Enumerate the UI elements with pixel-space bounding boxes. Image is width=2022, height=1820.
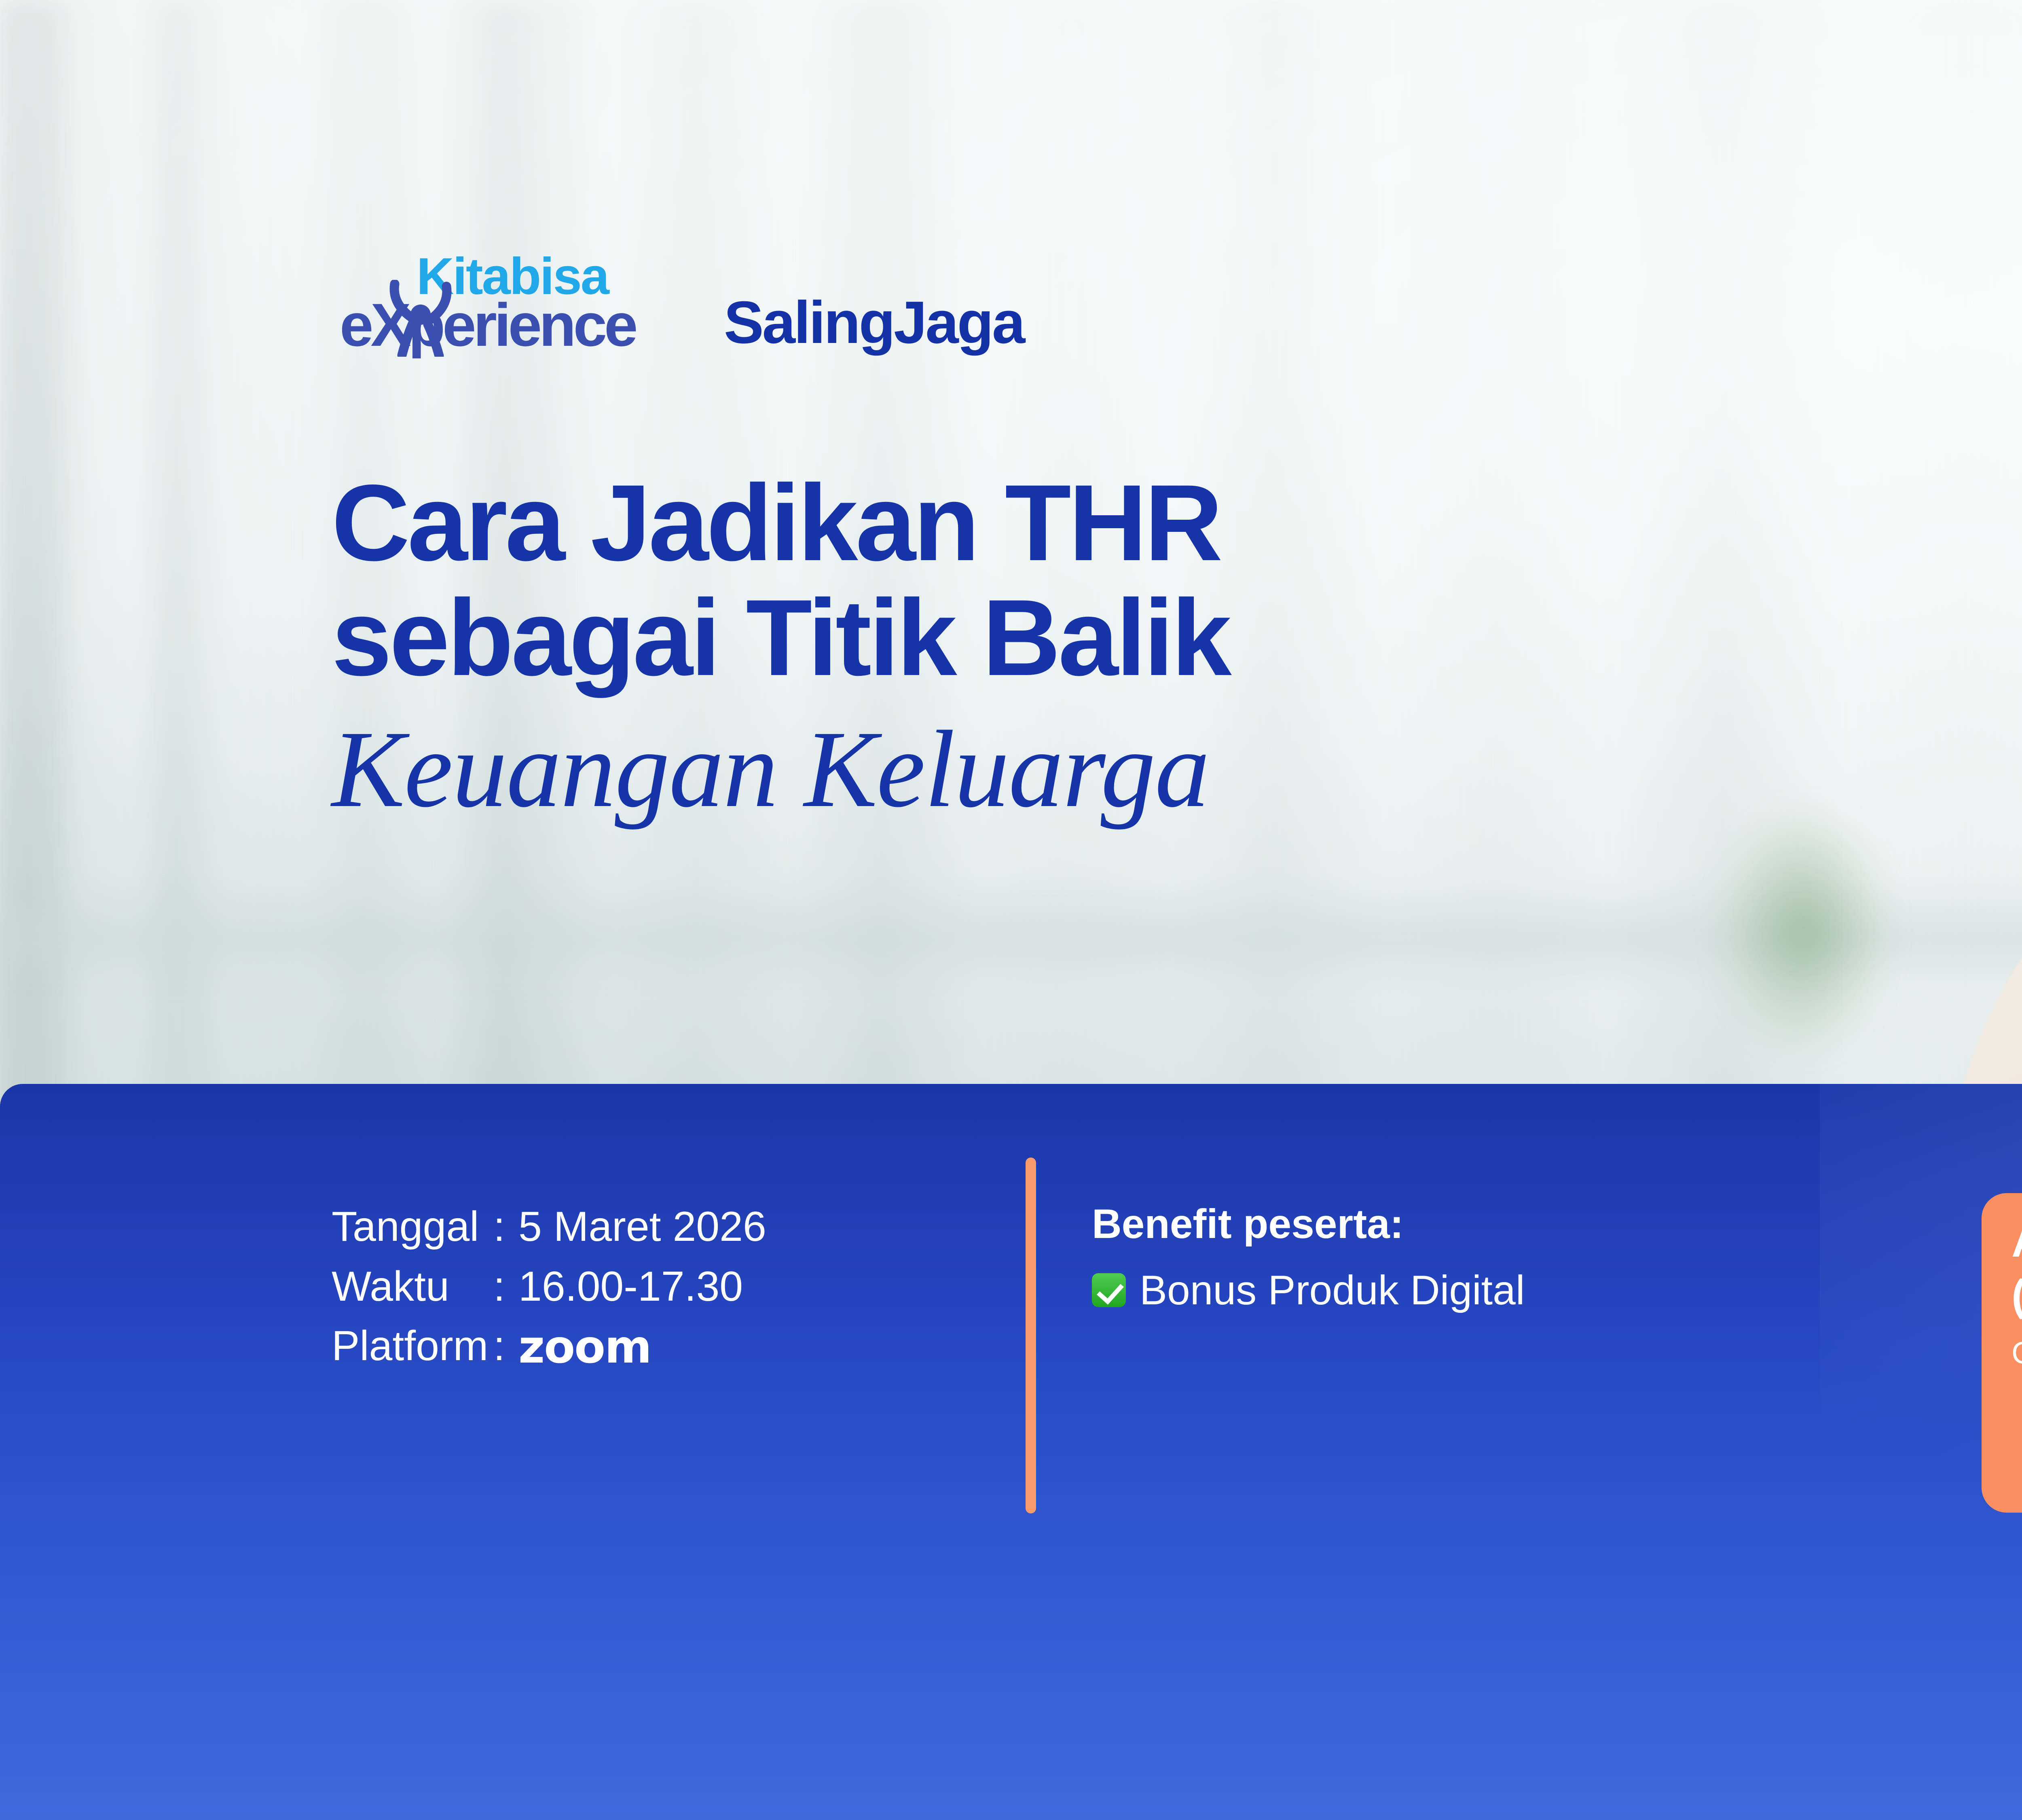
speaker-card: Amalia K. Nisa, CFP® (@rainnymalia) Cert… (1982, 1193, 2022, 1513)
headline-line-3-italic: Keuangan Keluarga (332, 705, 1868, 834)
logo-row: Kitabisa eXperience SalingJaga (340, 251, 1024, 360)
detail-value-waktu: 16.00-17.30 (518, 1257, 743, 1317)
benefit-list-item: Bonus Produk Digital (1092, 1266, 1525, 1315)
info-panel (0, 1084, 2022, 1820)
speaker-role: Certified Financial Planner (2011, 1334, 2022, 1372)
benefits-block: Benefit peserta: Bonus Produk Digital (1092, 1197, 1525, 1315)
detail-label-tanggal: Tanggal (332, 1197, 493, 1257)
vertical-divider (1026, 1158, 1036, 1513)
benefit-item-text: Bonus Produk Digital (1140, 1266, 1525, 1315)
person-raised-arms-icon (388, 280, 453, 357)
headline-line-2: sebagai Titik Balik (332, 580, 1868, 695)
salingjaga-logo: SalingJaga (724, 293, 1024, 353)
detail-colon-platform: : (493, 1316, 518, 1376)
green-check-icon (1092, 1273, 1126, 1307)
headline-line-1: Cara Jadikan THR (332, 465, 1868, 580)
headline-block: Cara Jadikan THR sebagai Titik Balik Keu… (332, 465, 1868, 834)
speaker-name-line-2: (@rainnymalia) (2011, 1268, 2022, 1322)
detail-colon-tanggal: : (493, 1197, 518, 1257)
webinar-promo-banner: Kitabisa eXperience SalingJaga Cara Jadi… (0, 0, 2022, 1820)
detail-label-platform: Platform (332, 1316, 493, 1376)
detail-row-tanggal: Tanggal : 5 Maret 2026 (332, 1197, 766, 1257)
detail-label-waktu: Waktu (332, 1257, 493, 1317)
detail-value-tanggal: 5 Maret 2026 (518, 1197, 766, 1257)
detail-row-waktu: Waktu : 16.00-17.30 (332, 1257, 766, 1317)
experience-wordmark: eXperience (340, 294, 635, 355)
speaker-name-line-1: Amalia K. Nisa, CFP® (2011, 1215, 2022, 1268)
zoom-logo: zoom (518, 1325, 651, 1370)
detail-colon-waktu: : (493, 1257, 518, 1317)
benefits-title: Benefit peserta: (1092, 1197, 1525, 1251)
kitabisa-experience-logo: Kitabisa eXperience (340, 251, 663, 360)
detail-row-platform: Platform : zoom (332, 1316, 766, 1376)
event-details: Tanggal : 5 Maret 2026 Waktu : 16.00-17.… (332, 1197, 766, 1376)
